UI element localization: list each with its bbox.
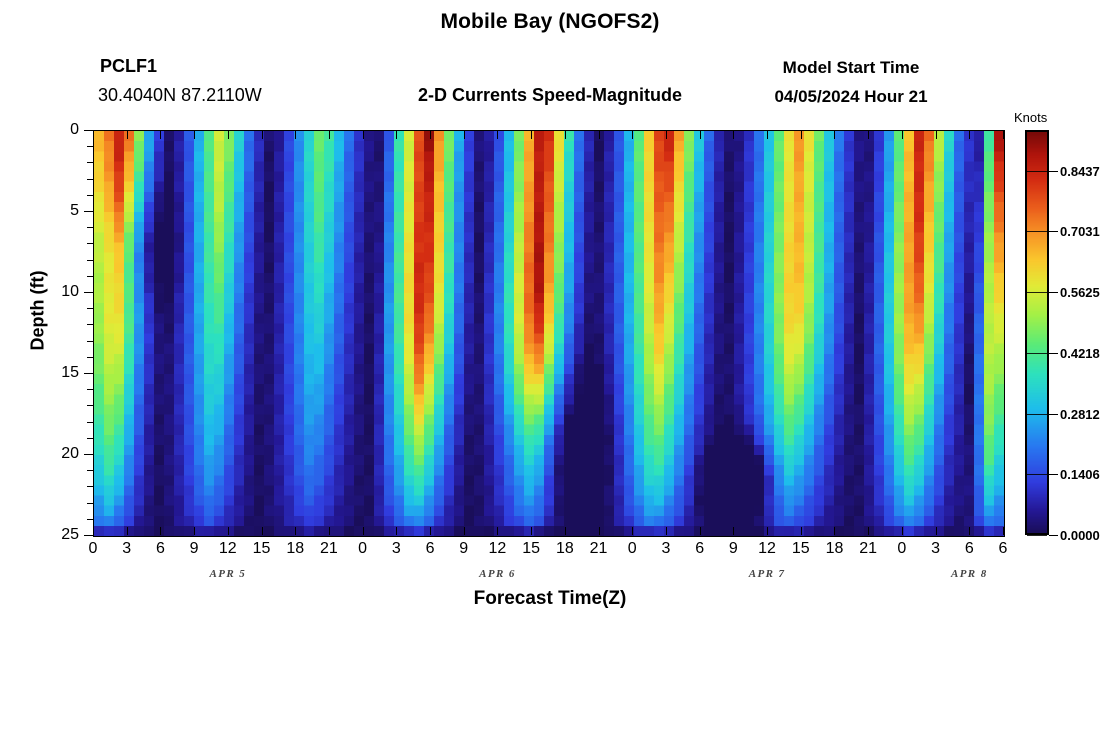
x-tick-mark [93,130,94,139]
colorbar-tick-mark [1049,474,1058,475]
colorbar-tick-divider [1027,231,1047,232]
y-tick-mark [84,454,93,455]
y-tick-mark [87,195,93,196]
x-tick-mark [262,130,263,139]
colorbar-tick-label: 0.562500 [1060,286,1100,299]
x-tick-mark [666,130,667,139]
x-tick-mark [497,527,498,535]
x-tick-mark [329,130,330,139]
y-tick-mark [87,243,93,244]
x-tick-mark [160,527,161,535]
colorbar-tick-label: 0.140625 [1060,468,1100,481]
x-tick-mark [228,527,229,535]
y-tick-mark [87,470,93,471]
y-tick-mark [84,373,93,374]
x-tick-mark [969,130,970,139]
x-tick-mark [194,527,195,535]
x-tick-mark [295,130,296,139]
x-tick-mark [733,130,734,139]
y-tick-mark [87,146,93,147]
x-tick-mark [599,130,600,139]
x-axis-day-label: APR 5 [183,568,273,580]
x-tick-mark [767,527,768,535]
x-axis-day-label: APR 7 [722,568,812,580]
y-tick-label: 10 [37,284,79,300]
y-tick-mark [87,227,93,228]
x-tick-mark [160,130,161,139]
y-tick-mark [84,211,93,212]
y-tick-mark [87,438,93,439]
colorbar-tick-mark [1049,414,1058,415]
y-tick-mark [87,389,93,390]
x-tick-mark [396,527,397,535]
page-title: Mobile Bay (NGOFS2) [0,10,1100,34]
x-tick-mark [194,130,195,139]
x-tick-mark [767,130,768,139]
x-axis-day-label: APR 8 [924,568,1014,580]
x-tick-mark [93,527,94,535]
colorbar-tick-divider [1027,353,1047,354]
colorbar-tick-divider [1027,474,1047,475]
y-tick-mark [87,503,93,504]
colorbar-tick-label: 0.000000 [1060,529,1100,542]
y-tick-mark [87,308,93,309]
y-tick-label: 0 [37,122,79,138]
x-tick-mark [801,130,802,139]
x-tick-mark [295,527,296,535]
colorbar-tick-divider [1027,171,1047,172]
x-tick-mark [396,130,397,139]
y-tick-label: 15 [37,365,79,381]
x-axis-title: Forecast Time(Z) [0,588,1100,610]
colorbar-tick-mark [1049,231,1058,232]
y-tick-mark [87,341,93,342]
x-tick-label: 6 [983,541,1023,557]
x-tick-mark [632,527,633,535]
x-axis-day-label: APR 6 [452,568,542,580]
x-tick-mark [127,527,128,535]
station-id-label: PCLF1 [100,56,157,77]
y-tick-mark [87,276,93,277]
x-tick-mark [834,130,835,139]
y-tick-mark [87,324,93,325]
x-tick-mark [430,130,431,139]
colorbar-tick-mark [1049,535,1058,536]
x-tick-mark [868,527,869,535]
x-tick-mark [801,527,802,535]
y-tick-mark [84,535,93,536]
x-tick-mark [329,527,330,535]
y-tick-mark [87,422,93,423]
y-tick-label: 20 [37,446,79,462]
x-tick-mark [902,130,903,139]
x-tick-mark [1003,527,1004,535]
y-tick-mark [87,519,93,520]
x-tick-mark [363,130,364,139]
y-axis-title: Depth (ft) [28,251,49,371]
x-tick-mark [902,527,903,535]
x-tick-mark [262,527,263,535]
x-tick-mark [666,527,667,535]
colorbar-tick-label: 0.703125 [1060,225,1100,238]
x-tick-mark [531,130,532,139]
x-tick-mark [733,527,734,535]
x-tick-mark [936,130,937,139]
colorbar-tick-divider [1027,292,1047,293]
x-tick-mark [430,527,431,535]
x-tick-mark [936,527,937,535]
y-tick-mark [87,260,93,261]
x-tick-mark [565,130,566,139]
colorbar-canvas [1027,132,1047,533]
colorbar-units-label: Knots [1014,110,1047,125]
y-tick-mark [84,130,93,131]
x-tick-mark [127,130,128,139]
colorbar-tick-mark [1049,353,1058,354]
x-tick-mark [1003,130,1004,139]
x-tick-mark [565,527,566,535]
x-tick-mark [969,527,970,535]
colorbar-tick-label: 0.281250 [1060,408,1100,421]
x-tick-mark [599,527,600,535]
x-tick-mark [497,130,498,139]
colorbar-tick-divider [1027,535,1047,536]
x-tick-mark [464,130,465,139]
x-tick-mark [868,130,869,139]
y-tick-label: 5 [37,203,79,219]
colorbar-tick-label: 0.84375 [1060,165,1100,178]
heatmap-canvas [94,131,1004,536]
heatmap-plot-area [93,130,1005,537]
model-start-time-value: 04/05/2024 Hour 21 [700,87,1002,107]
x-tick-mark [363,527,364,535]
y-tick-mark [87,405,93,406]
x-tick-mark [531,527,532,535]
model-start-time-label: Model Start Time [700,58,1002,78]
colorbar-tick-divider [1027,414,1047,415]
y-tick-mark [87,162,93,163]
y-tick-mark [87,179,93,180]
y-tick-mark [84,292,93,293]
colorbar-tick-mark [1049,171,1058,172]
x-tick-mark [700,527,701,535]
x-tick-mark [834,527,835,535]
colorbar-tick-label: 0.421875 [1060,347,1100,360]
x-tick-mark [700,130,701,139]
x-tick-mark [228,130,229,139]
x-tick-mark [464,527,465,535]
colorbar-tick-mark [1049,292,1058,293]
y-tick-mark [87,486,93,487]
y-tick-mark [87,357,93,358]
x-tick-mark [632,130,633,139]
